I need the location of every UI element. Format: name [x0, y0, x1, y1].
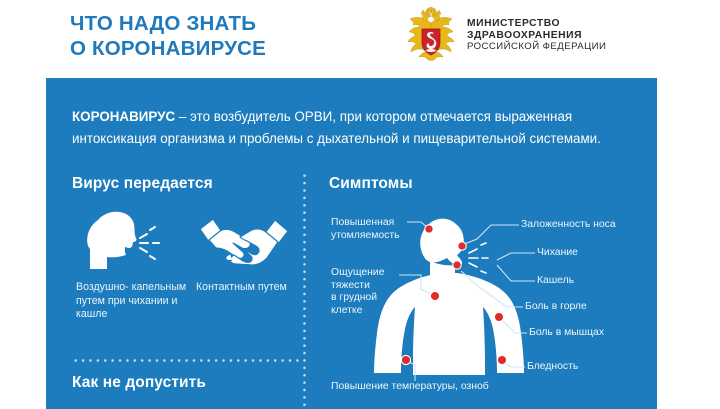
symptom-label-fatigue: Повышенная утомляемость: [331, 217, 405, 242]
symptom-label-nasal-congestion: Заложенность носа: [521, 219, 616, 232]
ministry-logo: МИНИСТЕРСТВО ЗДРАВООХРАНЕНИЯ РОССИЙСКОЙ …: [400, 7, 700, 69]
marker-nose: [458, 242, 466, 250]
intro-keyword: КОРОНАВИРУС: [72, 109, 175, 124]
prevention-heading: Как не допустить: [72, 374, 206, 392]
ministry-line-3: РОССИЙСКОЙ ФЕДЕРАЦИИ: [467, 41, 606, 53]
marker-chest: [430, 291, 439, 300]
transmission-caption-contact: Контактным путем: [196, 281, 304, 295]
symptom-label-fever: Повышение температуры, озноб: [331, 381, 561, 394]
marker-fatigue: [425, 225, 433, 233]
page-title: ЧТО НАДО ЗНАТЬ О КОРОНАВИРУСЕ: [70, 11, 390, 61]
symptoms-heading: Симптомы: [329, 175, 413, 193]
sneeze-lines-icon: [140, 227, 159, 259]
handshake-icon: [196, 207, 292, 279]
symptom-diagram: Повышенная утомляемость Ощущение тяжести…: [329, 203, 649, 403]
page-title-line-1: ЧТО НАДО ЗНАТЬ: [70, 11, 390, 36]
marker-fever: [401, 355, 410, 364]
marker-pallor: [497, 355, 506, 364]
sneezing-head-icon: [76, 207, 176, 279]
sneezing-head-icon-wrap: [76, 207, 196, 279]
symptom-label-chest-heaviness: Ощущение тяжести в грудной клетке: [331, 267, 397, 317]
marker-throat: [453, 261, 461, 269]
coat-of-arms-icon: [400, 7, 462, 69]
handshake-icon-wrap: [196, 207, 304, 279]
symptom-label-muscle-pain: Боль в мышцах: [529, 327, 604, 340]
symptoms-section: Симптомы: [329, 175, 649, 409]
symptom-label-sore-throat: Боль в горле: [525, 301, 587, 314]
symptom-label-sneezing: Чихание: [537, 247, 578, 260]
symptom-label-cough: Кашель: [537, 275, 574, 288]
transmission-caption-airborne: Воздушно- капельным путем при чихании и …: [76, 281, 196, 322]
intro-paragraph: КОРОНАВИРУС – это возбудитель ОРВИ, при …: [72, 106, 638, 149]
symptom-label-pallor: Бледность: [527, 361, 578, 374]
marker-muscle: [494, 312, 503, 321]
transmission-item-airborne: Воздушно- капельным путем при чихании и …: [76, 207, 196, 322]
page-title-line-2: О КОРОНАВИРУСЕ: [70, 36, 390, 61]
ministry-line-1: МИНИСТЕРСТВО: [467, 18, 606, 30]
ministry-line-2: ЗДРАВООХРАНЕНИЯ: [467, 30, 606, 42]
sneeze-burst-icon: [469, 243, 488, 273]
ministry-name: МИНИСТЕРСТВО ЗДРАВООХРАНЕНИЯ РОССИЙСКОЙ …: [467, 18, 606, 53]
info-panel: КОРОНАВИРУС – это возбудитель ОРВИ, при …: [46, 78, 657, 409]
transmission-heading: Вирус передается: [72, 175, 213, 193]
page-header: ЧТО НАДО ЗНАТЬ О КОРОНАВИРУСЕ: [0, 0, 720, 78]
transmission-item-contact: Контактным путем: [196, 207, 304, 295]
